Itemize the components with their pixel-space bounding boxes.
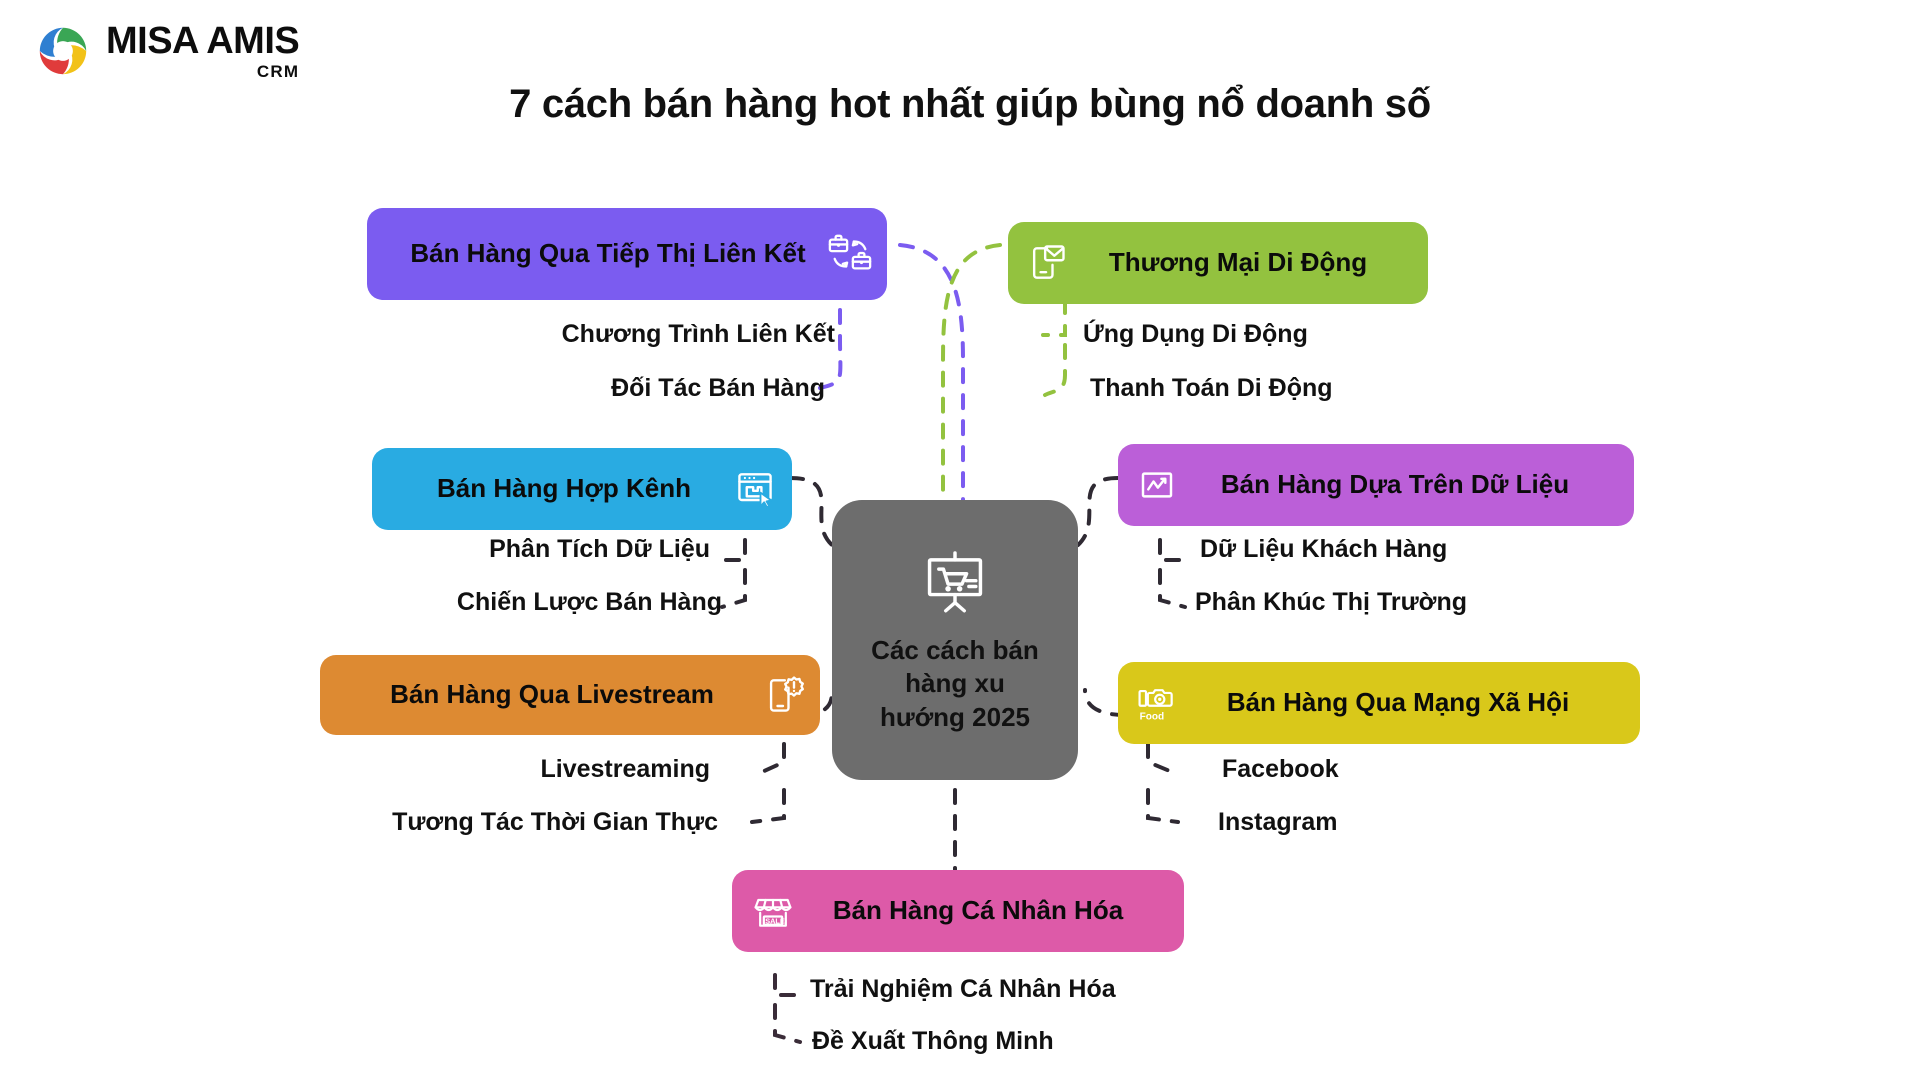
branch-label-social-selling: Bán Hàng Qua Mạng Xã Hội [1180, 688, 1616, 718]
connector-mobile-children [1043, 300, 1065, 395]
connector-omnichannel-main [790, 478, 832, 545]
branch-node-personalized[interactable]: SALE Bán Hàng Cá Nhân Hóa [732, 870, 1184, 952]
branch-node-affiliate[interactable]: Bán Hàng Qua Tiếp Thị Liên Kết [367, 208, 887, 300]
presentation-cart-icon [918, 546, 992, 620]
page-title: 7 cách bán hàng hot nhất giúp bùng nổ do… [380, 82, 1560, 127]
connector-datadriven-children [1160, 540, 1185, 607]
shop-sale-icon: SALE [750, 888, 796, 934]
connector-mobile-main [943, 245, 1000, 500]
mindmap-canvas: MISA AMIS CRM 7 cách bán hàng hot nhất g… [0, 0, 1920, 1080]
sub-label-affiliate-1: Đối Tác Bán Hàng [180, 374, 825, 403]
connector-omnichannel-children [722, 540, 745, 607]
sub-label-personalized-0: Trải Nghiệm Cá Nhân Hóa [810, 975, 1116, 1004]
sub-label-omnichannel-0: Phân Tích Dữ Liệu [140, 535, 710, 564]
sub-label-mobile-0: Ứng Dụng Di Động [1083, 320, 1308, 349]
sub-label-personalized-1: Đề Xuất Thông Minh [812, 1027, 1054, 1056]
svg-text:SALE: SALE [765, 916, 785, 925]
branch-label-mobile-commerce: Thương Mại Di Động [1070, 248, 1406, 278]
connector-affiliate-main [900, 245, 963, 500]
misa-pinwheel-icon [34, 22, 92, 80]
sub-label-social-1: Instagram [1218, 808, 1337, 837]
branch-label-data-driven: Bán Hàng Dựa Trên Dữ Liệu [1180, 470, 1610, 500]
branch-label-livestream: Bán Hàng Qua Livestream [344, 680, 760, 710]
branch-node-omnichannel[interactable]: Bán Hàng Hợp Kênh [372, 448, 792, 530]
brand-subname: CRM [257, 63, 299, 80]
mobile-envelope-icon [1024, 240, 1070, 286]
camera-food-icon: Food [1134, 680, 1180, 726]
branch-node-mobile-commerce[interactable]: Thương Mại Di Động [1008, 222, 1428, 304]
connector-personalized-children [775, 975, 800, 1042]
svg-text:Food: Food [1140, 712, 1165, 723]
sub-label-datadriven-0: Dữ Liệu Khách Hàng [1200, 535, 1447, 564]
branch-label-affiliate: Bán Hàng Qua Tiếp Thị Liên Kết [389, 239, 827, 269]
briefcase-exchange-icon [827, 231, 873, 277]
connector-datadriven-main [1078, 478, 1118, 545]
sub-label-omnichannel-1: Chiến Lược Bán Hàng [140, 588, 722, 617]
branch-label-personalized: Bán Hàng Cá Nhân Hóa [796, 896, 1160, 926]
brand-wordmark: MISA AMIS CRM [106, 22, 299, 80]
browser-cursor-icon [732, 466, 778, 512]
misa-amis-logo: MISA AMIS CRM [34, 22, 299, 80]
center-node[interactable]: Các cách bán hàng xu hướng 2025 [832, 500, 1078, 780]
sub-label-livestream-1: Tương Tác Thời Gian Thực [140, 808, 718, 837]
phone-alert-icon [760, 672, 806, 718]
line-chart-icon [1134, 462, 1180, 508]
branch-node-social-selling[interactable]: Food Bán Hàng Qua Mạng Xã Hội [1118, 662, 1640, 744]
branch-node-livestream[interactable]: Bán Hàng Qua Livestream [320, 655, 820, 735]
sub-label-livestream-0: Livestreaming [140, 755, 710, 784]
sub-label-affiliate-0: Chương Trình Liên Kết [180, 320, 835, 349]
center-label: Các cách bán hàng xu hướng 2025 [870, 634, 1040, 734]
branch-label-omnichannel: Bán Hàng Hợp Kênh [396, 474, 732, 504]
sub-label-social-0: Facebook [1222, 755, 1339, 784]
branch-node-data-driven[interactable]: Bán Hàng Dựa Trên Dữ Liệu [1118, 444, 1634, 526]
sub-label-datadriven-1: Phân Khúc Thị Trường [1195, 588, 1467, 617]
sub-label-mobile-1: Thanh Toán Di Động [1090, 374, 1333, 403]
brand-name: MISA AMIS [106, 22, 299, 60]
